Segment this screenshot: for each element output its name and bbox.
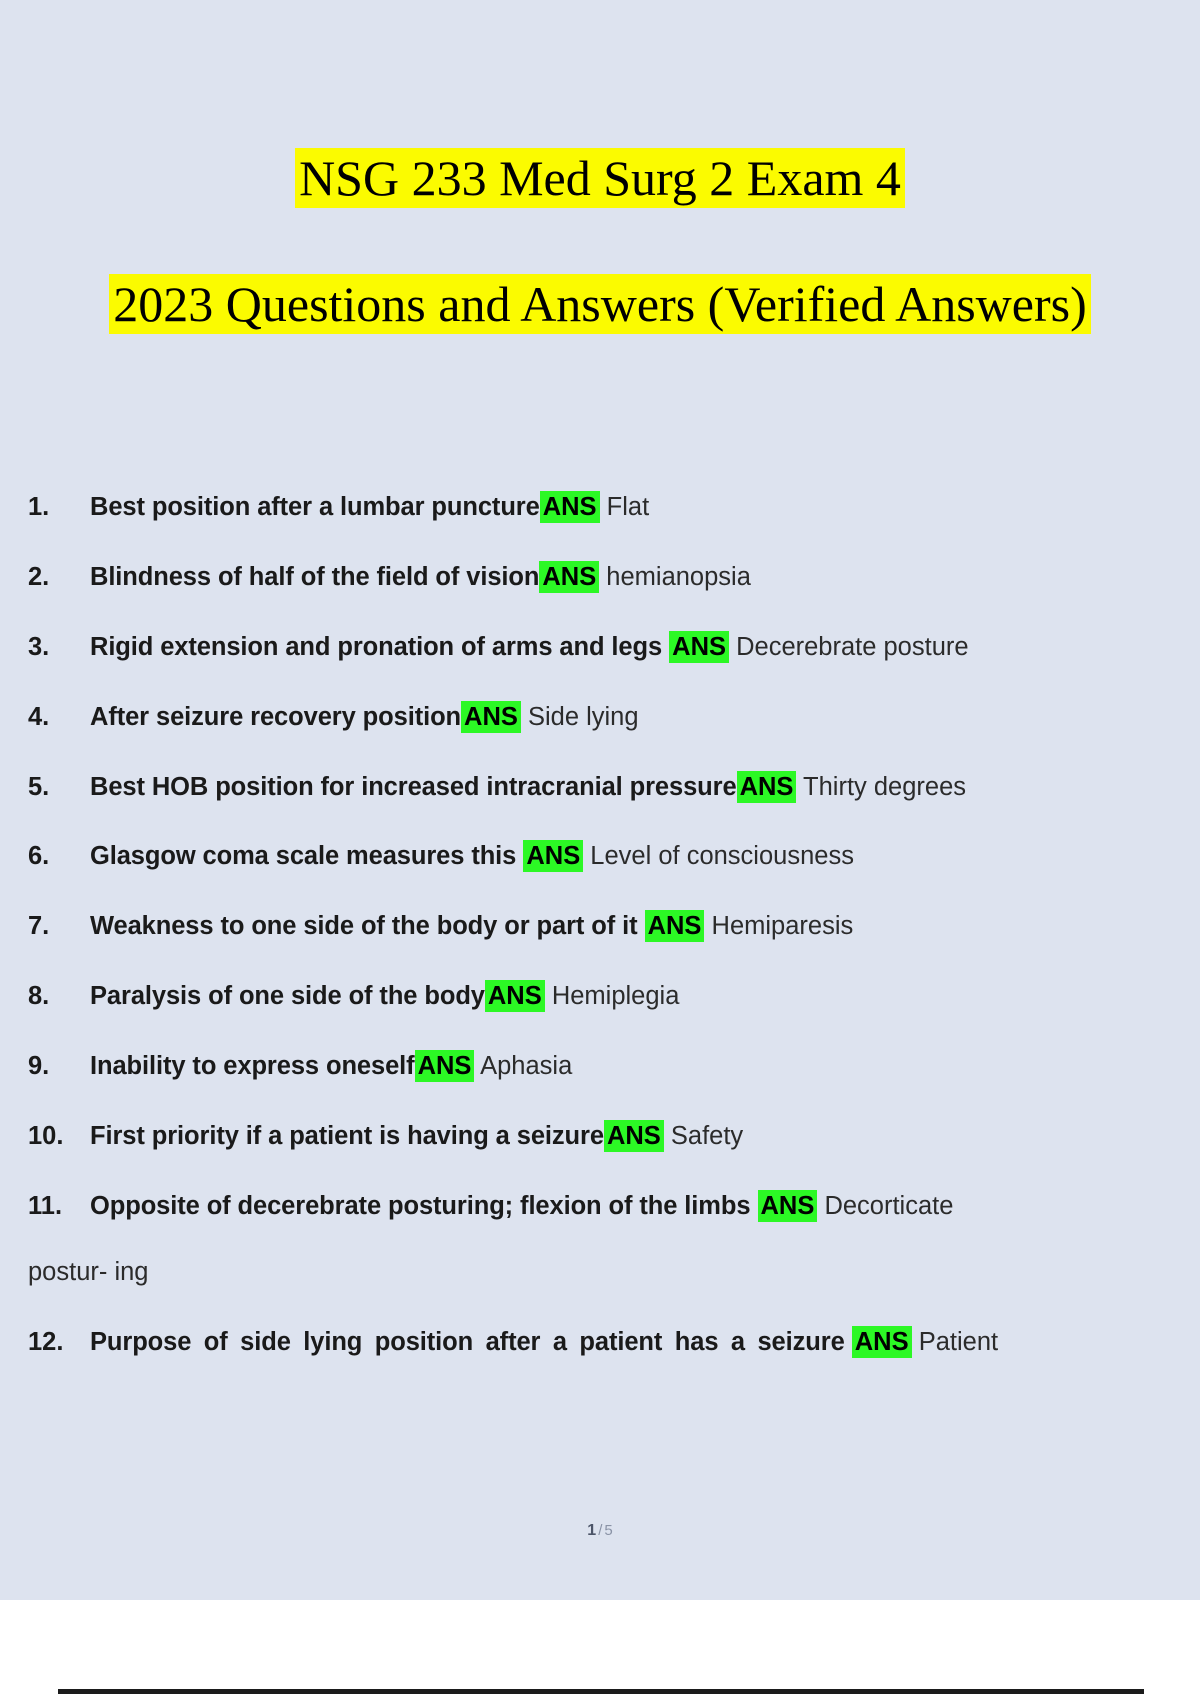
list-item-number: 5. <box>28 772 49 804</box>
ans-badge: ANS <box>645 910 705 942</box>
answer-text: Thirty degrees <box>803 773 966 801</box>
answer-text: Side lying <box>528 703 639 731</box>
question-text: Glasgow coma scale measures this <box>90 842 516 870</box>
answer-continuation: postur- ing <box>28 1257 1200 1289</box>
question-text: Inability to express oneself <box>90 1052 415 1080</box>
ans-badge: ANS <box>461 701 521 733</box>
list-item: 7. Weakness to one side of the body or p… <box>28 911 1200 943</box>
question-text: Blindness of half of the field of vision <box>90 563 539 591</box>
question-text: After seizure recovery position <box>90 703 461 731</box>
question-text: Paralysis of one side of the body <box>90 982 485 1010</box>
answer-text: Aphasia <box>480 1052 572 1080</box>
list-item-number: 1. <box>28 492 49 524</box>
question-text: First priority if a patient is having a … <box>90 1122 604 1150</box>
ans-badge: ANS <box>540 491 600 523</box>
question-text: Best position after a lumbar puncture <box>90 493 540 521</box>
list-item-number: 6. <box>28 841 49 873</box>
document-title-block: NSG 233 Med Surg 2 Exam 4 2023 Questions… <box>0 0 1200 332</box>
bottom-divider <box>58 1689 1144 1694</box>
list-item: 2. Blindness of half of the field of vis… <box>28 562 1200 594</box>
list-item-number: 2. <box>28 562 49 594</box>
question-text: Weakness to one side of the body or part… <box>90 912 638 940</box>
page-separator: / <box>598 1522 602 1539</box>
title-highlight-2: 2023 Questions and Answers (Verified Ans… <box>109 274 1090 334</box>
question-text: Best HOB position for increased intracra… <box>90 773 737 801</box>
ans-badge: ANS <box>415 1050 475 1082</box>
ans-badge: ANS <box>737 771 797 803</box>
page-indicator: 1/5 <box>0 1522 1200 1540</box>
answer-text: Patient <box>919 1328 998 1356</box>
document-title-line-1: NSG 233 Med Surg 2 Exam 4 <box>0 150 1200 206</box>
list-item: 6. Glasgow coma scale measures this ANS … <box>28 841 1200 873</box>
question-text: Purpose of side lying position after a p… <box>90 1328 845 1356</box>
list-item-number: 8. <box>28 981 49 1013</box>
ans-badge: ANS <box>852 1326 912 1358</box>
list-item: 1. Best position after a lumbar puncture… <box>28 492 1200 524</box>
list-item: 4. After seizure recovery positionANS Si… <box>28 702 1200 734</box>
list-item: 11. Opposite of decerebrate posturing; f… <box>28 1191 1200 1289</box>
title-highlight-1: NSG 233 Med Surg 2 Exam 4 <box>295 148 905 208</box>
answer-text: Hemiparesis <box>712 912 854 940</box>
answer-text: Flat <box>607 493 650 521</box>
answer-text: Decorticate <box>824 1192 953 1220</box>
answer-text: Level of consciousness <box>590 842 854 870</box>
question-text: Opposite of decerebrate posturing; flexi… <box>90 1192 750 1220</box>
list-item: 5. Best HOB position for increased intra… <box>28 772 1200 804</box>
ans-badge: ANS <box>604 1120 664 1152</box>
ans-badge: ANS <box>758 1190 818 1222</box>
ans-badge: ANS <box>523 840 583 872</box>
answer-text: Safety <box>671 1122 743 1150</box>
question-answer-list: 1. Best position after a lumbar puncture… <box>0 492 1200 1358</box>
question-text: Rigid extension and pronation of arms an… <box>90 633 662 661</box>
total-page-count: 5 <box>604 1522 612 1539</box>
ans-badge: ANS <box>485 980 545 1012</box>
list-item-number: 10. <box>28 1121 63 1153</box>
below-page-whitespace <box>0 1600 1200 1700</box>
answer-text: Hemiplegia <box>552 982 680 1010</box>
answer-text: Decerebrate posture <box>736 633 968 661</box>
answer-text: hemianopsia <box>606 563 751 591</box>
current-page-number: 1 <box>587 1522 596 1539</box>
list-item-number: 12. <box>28 1327 63 1359</box>
list-item: 8. Paralysis of one side of the bodyANS … <box>28 981 1200 1013</box>
list-item-number: 9. <box>28 1051 49 1083</box>
list-item-number: 11. <box>28 1191 62 1223</box>
list-item-number: 3. <box>28 632 49 664</box>
list-item-number: 4. <box>28 702 49 734</box>
document-page: NSG 233 Med Surg 2 Exam 4 2023 Questions… <box>0 0 1200 1600</box>
ans-badge: ANS <box>669 631 729 663</box>
list-item: 10. First priority if a patient is havin… <box>28 1121 1200 1153</box>
list-item: 12. Purpose of side lying position after… <box>28 1327 1200 1359</box>
ans-badge: ANS <box>539 561 599 593</box>
list-item: 3. Rigid extension and pronation of arms… <box>28 632 1200 664</box>
list-item-number: 7. <box>28 911 49 943</box>
list-item: 9. Inability to express oneselfANS Aphas… <box>28 1051 1200 1083</box>
document-title-line-2: 2023 Questions and Answers (Verified Ans… <box>0 276 1200 332</box>
